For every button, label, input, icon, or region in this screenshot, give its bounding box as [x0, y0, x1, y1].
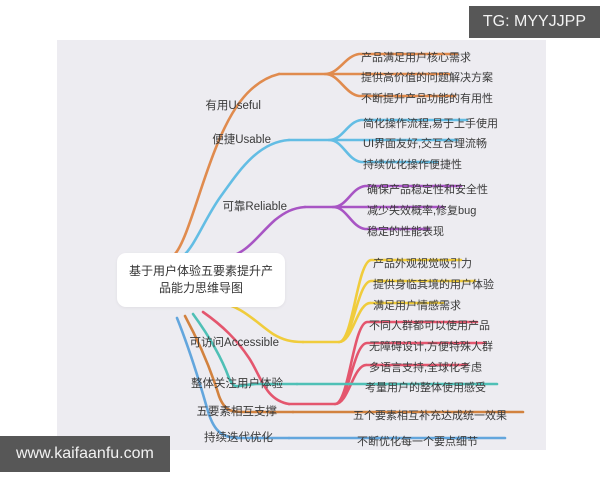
- center-node[interactable]: 基于用户体验五要素提升产品能力思维导图: [117, 253, 285, 307]
- branch-label-useful[interactable]: 有用Useful: [205, 99, 261, 113]
- leaf-desirable-1[interactable]: 产品外观视觉吸引力: [373, 257, 472, 271]
- leaf-reliable-1[interactable]: 确保产品稳定性和安全性: [367, 183, 488, 197]
- leaf-accessible-3[interactable]: 多语言支持,全球化考虑: [369, 361, 482, 375]
- branch-label-usable[interactable]: 便捷Usable: [212, 133, 271, 147]
- leaf-overall-experience-1[interactable]: 考量用户的整体使用感受: [365, 381, 486, 395]
- leaf-accessible-2[interactable]: 无障碍设计,方便特殊人群: [369, 340, 493, 354]
- watermark-top-right: TG: MYYJJPP: [469, 6, 600, 38]
- branch-label-mutual-support[interactable]: 五要素相互支撑: [197, 405, 278, 419]
- watermark-bottom-left: www.kaifaanfu.com: [0, 436, 170, 472]
- edge-trunk-mutual: [185, 316, 293, 412]
- leaf-reliable-3[interactable]: 稳定的性能表现: [367, 225, 444, 239]
- leaf-usable-1[interactable]: 简化操作流程,易于上手使用: [363, 117, 498, 131]
- leaf-useful-1[interactable]: 产品满足用户核心需求: [361, 51, 471, 65]
- branch-label-reliable[interactable]: 可靠Reliable: [222, 200, 287, 214]
- leaf-useful-3[interactable]: 不断提升产品功能的有用性: [361, 92, 493, 106]
- branch-label-accessible[interactable]: 可访问Accessible: [190, 336, 279, 350]
- center-node-label: 基于用户体验五要素提升产品能力思维导图: [117, 263, 285, 297]
- leaf-continuous-iteration-1[interactable]: 不断优化每一个要点细节: [357, 435, 478, 449]
- leaf-reliable-2[interactable]: 减少失效概率,修复bug: [367, 204, 476, 218]
- leaf-desirable-3[interactable]: 满足用户情感需求: [373, 299, 461, 313]
- leaf-mutual-support-1[interactable]: 五个要素相互补充达成统一效果: [353, 409, 507, 423]
- edge-trunk-reliable: [225, 207, 305, 258]
- leaf-useful-2[interactable]: 提供高价值的问题解决方案: [361, 71, 493, 85]
- branch-label-overall-experience[interactable]: 整体关注用户体验: [191, 377, 283, 391]
- leaf-desirable-2[interactable]: 提供身临其境的用户体验: [373, 278, 494, 292]
- leaf-usable-3[interactable]: 持续优化操作便捷性: [363, 158, 462, 172]
- mindmap-canvas: 基于用户体验五要素提升产品能力思维导图 有用Useful 便捷Usable 可靠…: [57, 40, 546, 450]
- branch-label-continuous-iteration[interactable]: 持续迭代优化: [204, 431, 273, 445]
- leaf-usable-2[interactable]: UI界面友好,交互合理流畅: [363, 137, 487, 151]
- leaf-accessible-1[interactable]: 不同人群都可以使用产品: [369, 319, 490, 333]
